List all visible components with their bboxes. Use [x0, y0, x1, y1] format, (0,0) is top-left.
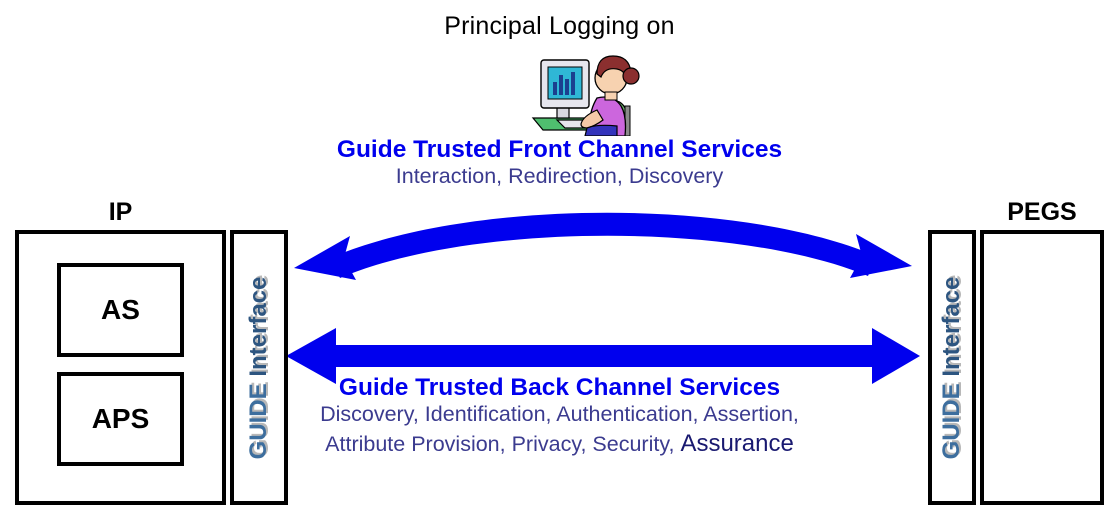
- front-channel-text: Guide Trusted Front Channel Services Int…: [0, 136, 1119, 191]
- pegs-entity-caption: PEGS: [980, 198, 1104, 227]
- page-title: Principal Logging on: [0, 12, 1119, 41]
- ip-entity-caption: IP: [15, 198, 226, 227]
- ip-component-as: AS: [57, 263, 184, 357]
- ip-guide-interface-label: GUIDE Interface: [247, 276, 271, 459]
- front-channel-arrow: [294, 213, 912, 280]
- front-channel-services: Interaction, Redirection, Discovery: [0, 163, 1119, 191]
- ip-component-aps: APS: [57, 372, 184, 466]
- ip-component-as-label: AS: [101, 294, 140, 326]
- pegs-guide-interface-word-guide: GUIDE: [938, 383, 965, 459]
- ip-guide-interface-word-guide: GUIDE: [245, 383, 272, 459]
- back-channel-services-line-2-prefix: Attribute Provision, Privacy, Security,: [325, 432, 680, 456]
- back-channel-assurance: Assurance: [680, 430, 793, 457]
- ip-guide-interface-strip: GUIDE Interface: [230, 230, 288, 505]
- ip-component-aps-label: APS: [92, 403, 150, 435]
- pegs-guide-interface-word-interface: Interface: [938, 276, 965, 376]
- ip-guide-interface-word-interface: Interface: [245, 276, 272, 376]
- pegs-guide-interface-label: GUIDE Interface: [940, 276, 964, 459]
- person-at-computer-icon: [527, 48, 649, 136]
- pegs-entity-box: [980, 230, 1104, 505]
- pegs-guide-interface-strip: GUIDE Interface: [928, 230, 976, 505]
- front-channel-heading: Guide Trusted Front Channel Services: [0, 136, 1119, 163]
- diagram-canvas: Principal Logging on: [0, 0, 1119, 515]
